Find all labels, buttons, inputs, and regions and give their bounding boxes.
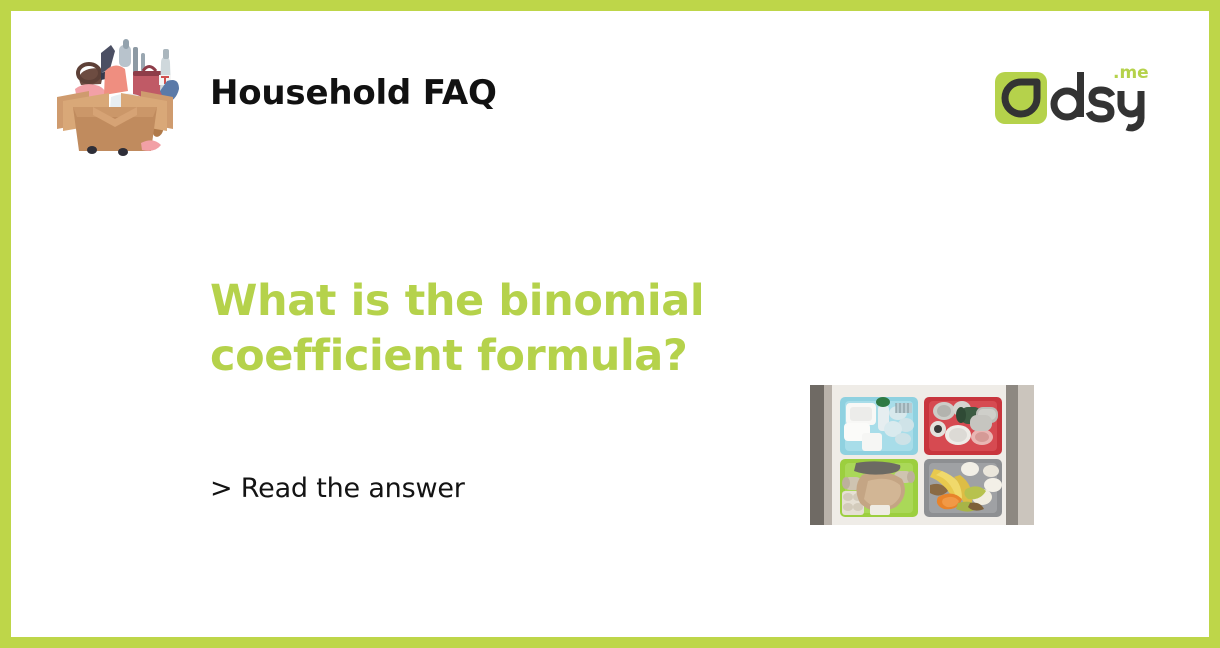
household-box-icon (49, 31, 181, 159)
adsy-logo[interactable]: .me (995, 58, 1155, 138)
page-title: Household FAQ (210, 73, 497, 113)
logo-tld-text: .me (1113, 63, 1149, 83)
page-frame: Household FAQ .me (0, 0, 1220, 648)
headline: What is the binomial coefficient formula… (210, 274, 830, 384)
header: Household FAQ .me (11, 11, 1209, 161)
faq-card: Household FAQ .me (11, 11, 1209, 637)
waste-sorting-bins-photo (810, 385, 1034, 525)
read-the-answer-link[interactable]: > Read the answer (210, 473, 465, 504)
